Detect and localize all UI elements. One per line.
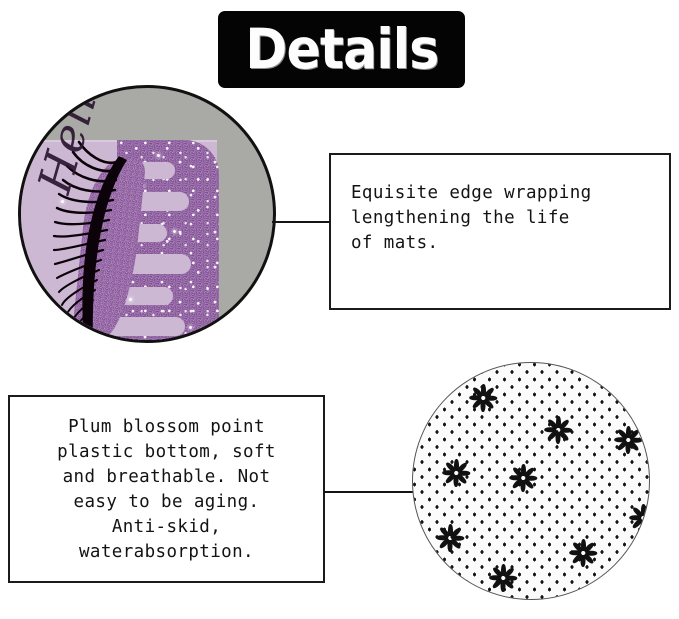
anti-skid-backing-photo [412,362,650,600]
callout-edge-wrapping: Equisite edge wrapping lengthening the l… [329,153,671,310]
details-infographic: { "title": { "label": "Details" }, "call… [0,0,679,619]
connector-line-top [272,221,331,223]
plum-blossom-motif [468,383,498,413]
sparkle [173,230,176,233]
sparkle [189,326,192,329]
mat-corner-photo: Hello [18,85,276,343]
page-title: Details [245,22,438,77]
callout-plum-blossom-bottom: Plum blossom point plastic bottom, soft … [8,395,325,583]
plum-blossom-motif [628,503,650,533]
callout-text: Equisite edge wrapping lengthening the l… [351,181,661,256]
plum-blossom-motif [613,425,643,455]
plum-blossom-motif [488,563,518,593]
plum-blossom-motif [531,598,561,600]
plum-blossom-motif [508,463,538,493]
plum-blossom-motif [598,578,628,600]
connector-line-bottom [324,491,414,493]
lash-base [82,156,127,343]
plum-blossom-motif [568,538,598,568]
details-title-banner: Details [218,11,465,88]
plum-blossom-motif [435,523,465,553]
callout-text: Plum blossom point plastic bottom, soft … [20,415,313,565]
plum-blossom-motif [543,415,573,445]
plum-blossom-motif [441,458,471,488]
blossom-petal [544,599,549,600]
